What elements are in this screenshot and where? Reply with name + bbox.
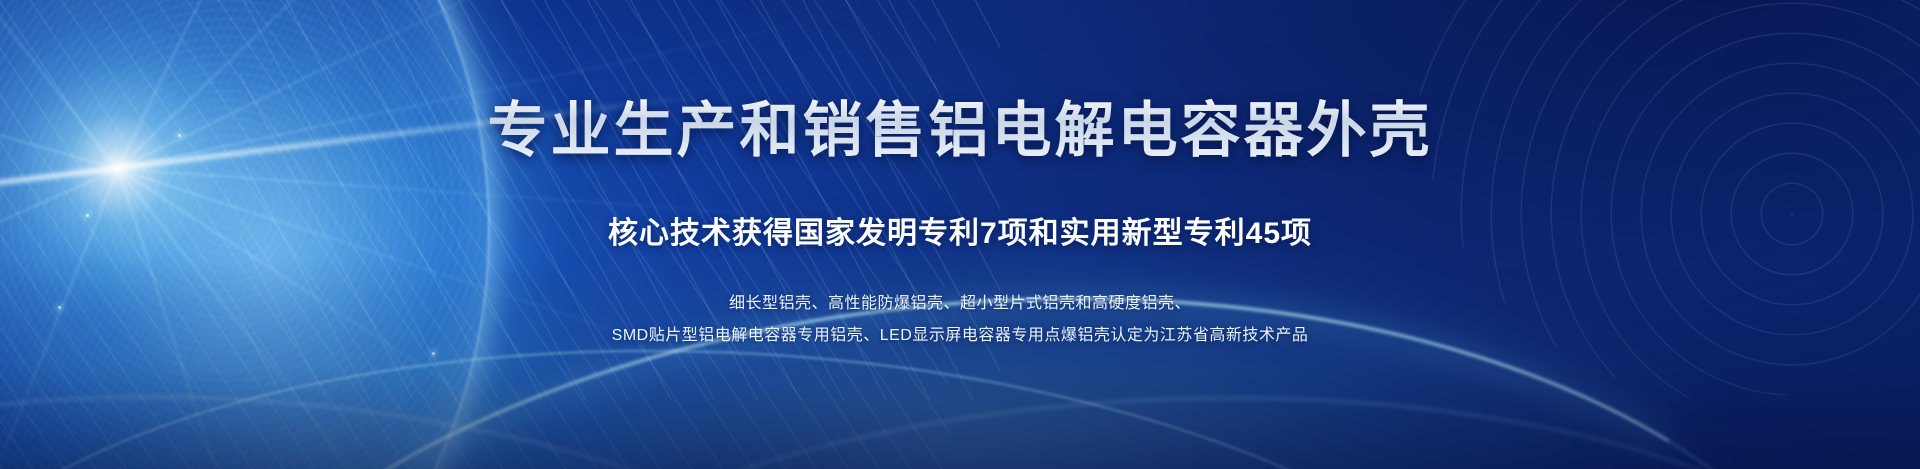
hero-banner: 专业生产和销售铝电解电容器外壳 核心技术获得国家发明专利7项和实用新型专利45项… (0, 0, 1920, 469)
banner-content: 专业生产和销售铝电解电容器外壳 核心技术获得国家发明专利7项和实用新型专利45项… (0, 0, 1920, 469)
banner-description: 细长型铝壳、高性能防爆铝壳、超小型片式铝壳和高硬度铝壳、 SMD贴片型铝电解电容… (612, 252, 1309, 352)
banner-subtitle: 核心技术获得国家发明专利7项和实用新型专利45项 (608, 164, 1312, 252)
banner-description-line-1: 细长型铝壳、高性能防爆铝壳、超小型片式铝壳和高硬度铝壳、 (612, 288, 1309, 320)
banner-description-line-2: SMD贴片型铝电解电容器专用铝壳、LED显示屏电容器专用点爆铝壳认定为江苏省高新… (612, 320, 1309, 352)
banner-title: 专业生产和销售铝电解电容器外壳 (488, 0, 1433, 164)
